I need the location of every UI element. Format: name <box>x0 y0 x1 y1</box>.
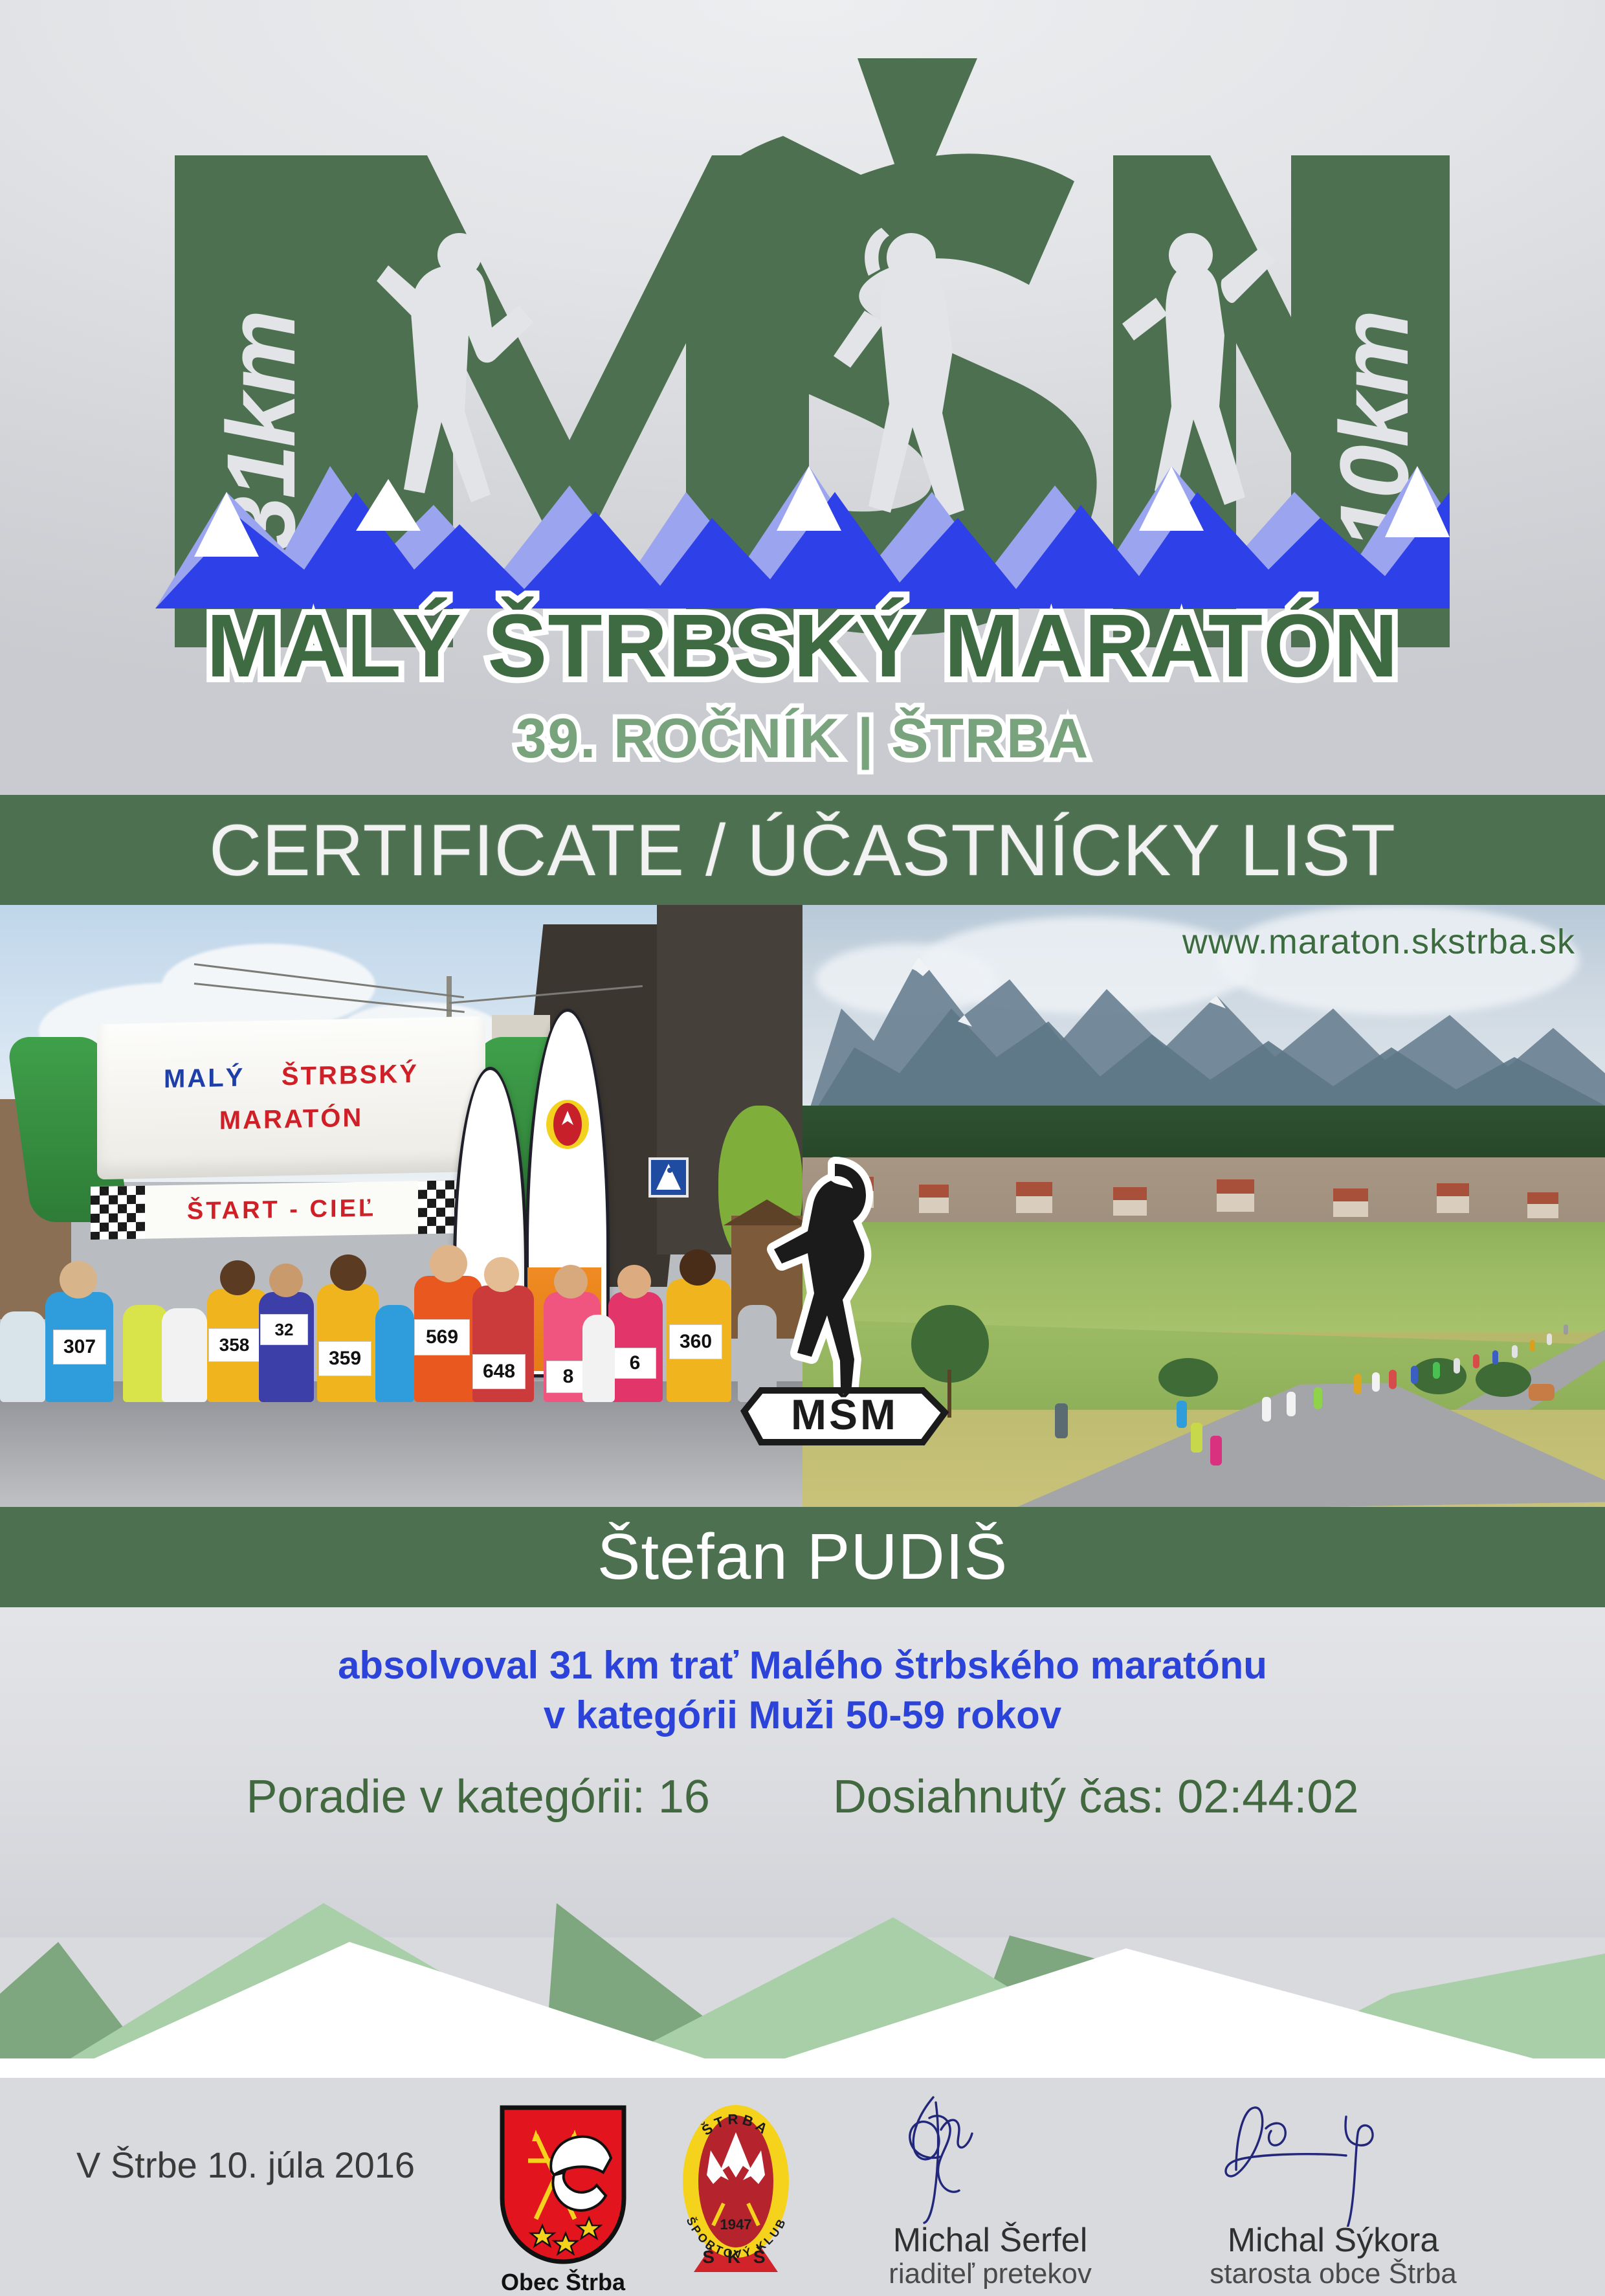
msm-runner-badge: MŠM <box>738 1152 951 1476</box>
logo-subtitle: 39. ROČNÍK | ŠTRBA <box>516 708 1090 770</box>
bib-number: 648 <box>472 1354 526 1389</box>
house <box>1527 1204 1558 1218</box>
runner <box>1372 1372 1380 1392</box>
bib-number: 569 <box>414 1319 470 1355</box>
obec-strba-crest-icon <box>498 2104 628 2266</box>
photo-start-line: MALÝ ŠTRBSKÝ MARATÓN ŠTART - CIEĽ <box>0 905 802 1507</box>
description-line-1: absolvoval 31 km trať Malého štrbského m… <box>0 1641 1605 1691</box>
arch-word-maraton: MARATÓN <box>219 1104 363 1135</box>
house-roof <box>1113 1187 1147 1200</box>
description-block: absolvoval 31 km trať Malého štrbského m… <box>0 1641 1605 1741</box>
runner-head <box>680 1249 716 1286</box>
runner-head <box>617 1265 651 1298</box>
runner <box>1354 1374 1362 1394</box>
msm-logo: 31km 10km <box>0 39 1605 790</box>
participant-name: Štefan PUDIŠ <box>597 1520 1008 1594</box>
runner <box>1433 1362 1440 1379</box>
house <box>1333 1201 1368 1217</box>
runner <box>1262 1397 1271 1421</box>
runner-head <box>430 1245 467 1282</box>
msm-ribbon: MŠM <box>744 1390 945 1442</box>
house <box>1016 1196 1052 1213</box>
arch-word-strbsky: ŠTRBSKÝ <box>282 1060 419 1091</box>
runner <box>1492 1350 1498 1365</box>
signature-role: riaditeľ pretekov <box>822 2258 1158 2290</box>
sks-club-logo-icon: ŠTRBA ŠPORTOVÝ KLUB 1947 Š K Š <box>667 2096 806 2272</box>
msm-logo-svg: 31km 10km <box>155 39 1450 790</box>
spectator <box>1055 1403 1068 1438</box>
bib-number: 359 <box>318 1341 371 1376</box>
sks-bottom-text: Š K Š <box>702 2246 769 2267</box>
house-roof <box>1016 1182 1052 1196</box>
runner <box>1473 1354 1479 1368</box>
sks-year: 1947 <box>720 2216 752 2233</box>
runner <box>1454 1358 1460 1374</box>
runner-head <box>220 1260 255 1295</box>
runner-body <box>375 1305 414 1402</box>
runner <box>1411 1366 1418 1384</box>
website-url[interactable]: www.maraton.skstrba.sk <box>1182 922 1575 962</box>
bush <box>1476 1362 1531 1397</box>
house-roof <box>1217 1179 1254 1194</box>
runner <box>1314 1387 1322 1409</box>
runner-body <box>162 1308 207 1402</box>
runner-head <box>330 1254 366 1291</box>
certificate-page: 31km 10km <box>0 0 1605 2271</box>
logo-title: MALÝ ŠTRBSKÝ MARATÓN <box>206 596 1399 696</box>
time-value: 02:44:02 <box>1177 1771 1358 1823</box>
runner-body <box>608 1292 663 1402</box>
time-label: Dosiahnutý čas: <box>833 1771 1164 1823</box>
runner <box>1389 1370 1397 1389</box>
signature-block-mayor: Michal Sýkora starosta obce Štrba <box>1165 2091 1501 2290</box>
bib-number: 358 <box>208 1328 260 1362</box>
results-row: Poradie v kategórii: 16 Dosiahnutý čas: … <box>0 1770 1605 1823</box>
signature-icon <box>874 2091 1107 2227</box>
issue-date: V Štrbe 10. júla 2016 <box>76 2144 415 2186</box>
rank-value: 16 <box>658 1771 710 1823</box>
rank-label: Poradie v kategórii: <box>247 1771 645 1823</box>
house <box>1437 1196 1469 1213</box>
description-line-2: v kategórii Muži 50-59 rokov <box>0 1691 1605 1741</box>
bib-number: 32 <box>260 1314 308 1345</box>
msm-ribbon-text: MŠM <box>791 1390 898 1438</box>
cow <box>1529 1384 1555 1401</box>
runner <box>1287 1392 1296 1416</box>
bib-number: 307 <box>53 1330 106 1365</box>
runner <box>1564 1324 1568 1335</box>
bib-number: 360 <box>669 1324 722 1359</box>
house-roof <box>1527 1192 1558 1204</box>
runner-body <box>0 1311 45 1402</box>
arch-title-line2: MARATÓN <box>219 1105 363 1134</box>
logo-area: 31km 10km <box>0 0 1605 795</box>
runner <box>1191 1423 1202 1453</box>
runner <box>1177 1401 1187 1428</box>
house-roof <box>1437 1183 1469 1196</box>
runner <box>1210 1436 1222 1466</box>
runner-crowd: 307 358 32 359 569 648 8 <box>0 1158 802 1507</box>
rank-result: Poradie v kategórii: 16 <box>247 1770 710 1823</box>
signature-role: starosta obce Štrba <box>1165 2258 1501 2290</box>
runner <box>1512 1345 1518 1358</box>
crest-label: Obec Štrba <box>479 2269 647 2296</box>
runner-body <box>582 1315 615 1402</box>
certificate-title: CERTIFICATE / ÚČASTNÍCKY LIST <box>209 808 1396 892</box>
certificate-footer: V Štrbe 10. júla 2016 Obec Štrba <box>0 1974 1605 2271</box>
house <box>1217 1194 1254 1212</box>
house <box>1113 1200 1147 1216</box>
runner-body <box>259 1292 314 1402</box>
runner <box>1547 1333 1552 1345</box>
signature-name: Michal Šerfel <box>822 2223 1158 2258</box>
arch-word-maly: MALÝ <box>164 1064 245 1094</box>
time-result: Dosiahnutý čas: 02:44:02 <box>833 1770 1359 1823</box>
participant-name-band: Štefan PUDIŠ <box>0 1507 1605 1607</box>
arch-title-line1: MALÝ ŠTRBSKÝ <box>164 1061 419 1092</box>
bib-number: 6 <box>614 1348 656 1379</box>
sks-emblem-on-flag <box>545 1099 590 1150</box>
signature-icon <box>1210 2091 1456 2227</box>
msm-runner-badge-svg: MŠM <box>738 1152 951 1476</box>
runner-head <box>554 1265 588 1298</box>
bush <box>1158 1358 1218 1397</box>
runner-head <box>484 1257 519 1292</box>
signature-name: Michal Sýkora <box>1165 2223 1501 2258</box>
runner <box>1530 1340 1535 1352</box>
runner-head <box>60 1261 97 1298</box>
certificate-header-band: CERTIFICATE / ÚČASTNÍCKY LIST <box>0 795 1605 905</box>
house-roof <box>1333 1188 1368 1201</box>
arch-banner-panel: MALÝ ŠTRBSKÝ MARATÓN <box>97 1016 485 1180</box>
runner-head <box>269 1264 303 1297</box>
signature-block-director: Michal Šerfel riaditeľ pretekov <box>822 2091 1158 2290</box>
